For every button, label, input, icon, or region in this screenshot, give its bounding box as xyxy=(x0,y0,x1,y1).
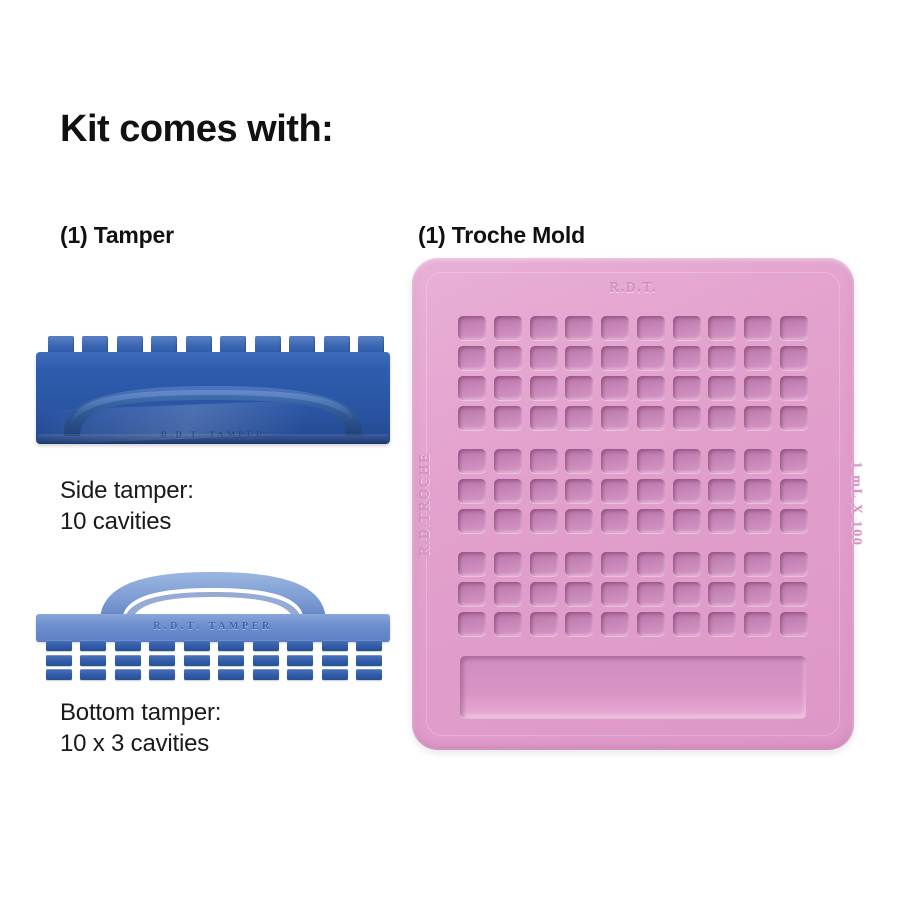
peg-column xyxy=(149,640,175,680)
cavity xyxy=(601,406,629,430)
cavity xyxy=(708,582,736,606)
bottom-tamper-caption: Bottom tamper: 10 x 3 cavities xyxy=(60,698,221,759)
peg xyxy=(149,655,175,666)
cavity xyxy=(744,316,772,340)
cavity xyxy=(637,376,665,400)
cavity xyxy=(744,449,772,473)
cavity xyxy=(494,449,522,473)
cavity xyxy=(637,316,665,340)
cavity xyxy=(494,406,522,430)
side-tamper-caption: Side tamper: 10 cavities xyxy=(60,476,194,537)
cavity xyxy=(565,479,593,503)
peg-column xyxy=(356,640,382,680)
cavity xyxy=(458,479,486,503)
peg xyxy=(149,640,175,651)
cavity xyxy=(530,509,558,533)
cavity xyxy=(601,449,629,473)
cavity xyxy=(637,346,665,370)
cavity xyxy=(637,552,665,576)
cavity xyxy=(601,552,629,576)
cavity xyxy=(744,479,772,503)
cavity-row xyxy=(458,406,808,430)
peg xyxy=(356,640,382,651)
cavity xyxy=(708,552,736,576)
cavity xyxy=(708,316,736,340)
cavity xyxy=(565,509,593,533)
cavity xyxy=(601,479,629,503)
peg xyxy=(287,655,313,666)
cavity xyxy=(601,509,629,533)
mold-trough xyxy=(460,656,806,718)
cavity xyxy=(673,449,701,473)
cavity xyxy=(530,346,558,370)
cavity xyxy=(494,479,522,503)
cavity-row xyxy=(458,479,808,503)
peg-column xyxy=(46,640,72,680)
peg xyxy=(184,640,210,651)
bottom-tamper-image: R.D.T. TAMPER xyxy=(36,570,390,680)
cavity xyxy=(744,552,772,576)
cavity xyxy=(780,552,808,576)
cavity xyxy=(458,449,486,473)
cavity-row xyxy=(458,612,808,636)
cavity xyxy=(708,509,736,533)
cavity xyxy=(494,509,522,533)
product-kit-illustration: Kit comes with: (1) Tamper (1) Troche Mo… xyxy=(0,0,900,900)
bottom-tamper-emboss: R.D.T. TAMPER xyxy=(36,621,390,632)
cavity xyxy=(458,316,486,340)
cavity-block-gap xyxy=(458,436,808,449)
cavity xyxy=(673,346,701,370)
peg xyxy=(253,640,279,651)
peg xyxy=(218,640,244,651)
cavity xyxy=(458,376,486,400)
cavity xyxy=(494,552,522,576)
cavity xyxy=(458,582,486,606)
cavity xyxy=(458,552,486,576)
peg xyxy=(218,669,244,680)
mold-right-emboss: 1 mL X 100 xyxy=(848,462,864,547)
cavity xyxy=(530,316,558,340)
peg-column xyxy=(322,640,348,680)
cavity xyxy=(780,449,808,473)
peg xyxy=(322,640,348,651)
side-tamper-image: R.D.T. TAMPER xyxy=(36,336,390,456)
peg xyxy=(287,669,313,680)
bottom-tamper-peg-grid xyxy=(46,640,382,680)
cavity xyxy=(530,406,558,430)
cavity xyxy=(565,612,593,636)
cavity xyxy=(565,406,593,430)
cavity xyxy=(494,346,522,370)
peg xyxy=(46,655,72,666)
cavity xyxy=(708,479,736,503)
cavity xyxy=(708,449,736,473)
cavity xyxy=(673,612,701,636)
cavity xyxy=(673,509,701,533)
peg-column xyxy=(287,640,313,680)
peg xyxy=(356,669,382,680)
cavity xyxy=(780,346,808,370)
cavity xyxy=(530,552,558,576)
cavity xyxy=(744,582,772,606)
side-tamper-handle xyxy=(58,378,368,436)
cavity xyxy=(673,479,701,503)
cavity xyxy=(708,346,736,370)
cavity-row xyxy=(458,316,808,340)
cavity xyxy=(708,612,736,636)
side-tamper-caption-line2: 10 cavities xyxy=(60,507,194,538)
page-title: Kit comes with: xyxy=(60,108,333,151)
cavity xyxy=(601,612,629,636)
mold-top-emboss: R.D.T. xyxy=(412,281,854,297)
cavity xyxy=(780,479,808,503)
tamper-section-label: (1) Tamper xyxy=(60,222,174,249)
peg xyxy=(218,655,244,666)
cavity-row-block xyxy=(458,316,808,436)
cavity xyxy=(601,376,629,400)
peg xyxy=(80,655,106,666)
cavity xyxy=(673,582,701,606)
peg-column xyxy=(80,640,106,680)
peg xyxy=(287,640,313,651)
side-tamper-plate: R.D.T. TAMPER xyxy=(36,352,390,444)
peg xyxy=(115,655,141,666)
cavity xyxy=(565,316,593,340)
cavity xyxy=(601,316,629,340)
cavity-row-block xyxy=(458,552,808,642)
cavity-row xyxy=(458,376,808,400)
cavity xyxy=(601,582,629,606)
cavity xyxy=(637,406,665,430)
cavity xyxy=(708,406,736,430)
peg xyxy=(322,655,348,666)
peg xyxy=(322,669,348,680)
cavity xyxy=(637,582,665,606)
peg xyxy=(184,669,210,680)
cavity xyxy=(530,376,558,400)
mold-left-emboss: R.D.TROCHE xyxy=(418,452,434,556)
cavity xyxy=(744,376,772,400)
peg xyxy=(356,655,382,666)
peg xyxy=(115,669,141,680)
cavity xyxy=(530,612,558,636)
peg xyxy=(46,640,72,651)
cavity xyxy=(565,552,593,576)
bottom-tamper-bar: R.D.T. TAMPER xyxy=(36,614,390,642)
cavity xyxy=(673,316,701,340)
cavity xyxy=(530,582,558,606)
cavity xyxy=(494,612,522,636)
cavity xyxy=(744,509,772,533)
cavity xyxy=(458,509,486,533)
peg-column xyxy=(184,640,210,680)
cavity xyxy=(673,376,701,400)
cavity xyxy=(780,316,808,340)
peg xyxy=(253,655,279,666)
peg-column xyxy=(253,640,279,680)
peg xyxy=(80,640,106,651)
cavity xyxy=(780,612,808,636)
cavity xyxy=(565,449,593,473)
peg xyxy=(115,640,141,651)
cavity xyxy=(458,346,486,370)
cavity xyxy=(565,376,593,400)
side-tamper-caption-line1: Side tamper: xyxy=(60,476,194,507)
cavity xyxy=(530,449,558,473)
cavity xyxy=(494,582,522,606)
cavity xyxy=(780,582,808,606)
cavity-block-gap xyxy=(458,539,808,552)
cavity xyxy=(780,509,808,533)
cavity-row xyxy=(458,582,808,606)
cavity-row xyxy=(458,346,808,370)
peg xyxy=(253,669,279,680)
cavity xyxy=(565,582,593,606)
bottom-tamper-caption-line2: 10 x 3 cavities xyxy=(60,729,221,760)
cavity xyxy=(708,376,736,400)
peg-column xyxy=(115,640,141,680)
cavity-row-block xyxy=(458,449,808,539)
peg xyxy=(80,669,106,680)
cavity xyxy=(673,552,701,576)
cavity xyxy=(458,406,486,430)
peg xyxy=(184,655,210,666)
cavity xyxy=(494,376,522,400)
side-tamper-emboss: R.D.T. TAMPER xyxy=(36,430,390,440)
cavity xyxy=(458,612,486,636)
cavity xyxy=(744,406,772,430)
cavity-row xyxy=(458,552,808,576)
mold-section-label: (1) Troche Mold xyxy=(418,222,585,249)
troche-mold-image: R.D.T. R.D.TROCHE 1 mL X 100 xyxy=(412,258,854,750)
cavity-row xyxy=(458,509,808,533)
cavity xyxy=(744,346,772,370)
cavity xyxy=(530,479,558,503)
cavity xyxy=(673,406,701,430)
cavity xyxy=(637,612,665,636)
cavity xyxy=(565,346,593,370)
peg xyxy=(149,669,175,680)
cavity xyxy=(637,449,665,473)
cavity xyxy=(637,479,665,503)
cavity xyxy=(637,509,665,533)
peg xyxy=(46,669,72,680)
mold-cavity-grid xyxy=(458,316,808,646)
peg-column xyxy=(218,640,244,680)
cavity xyxy=(780,376,808,400)
cavity-row xyxy=(458,449,808,473)
cavity xyxy=(744,612,772,636)
bottom-tamper-caption-line1: Bottom tamper: xyxy=(60,698,221,729)
cavity xyxy=(601,346,629,370)
cavity xyxy=(780,406,808,430)
cavity xyxy=(494,316,522,340)
